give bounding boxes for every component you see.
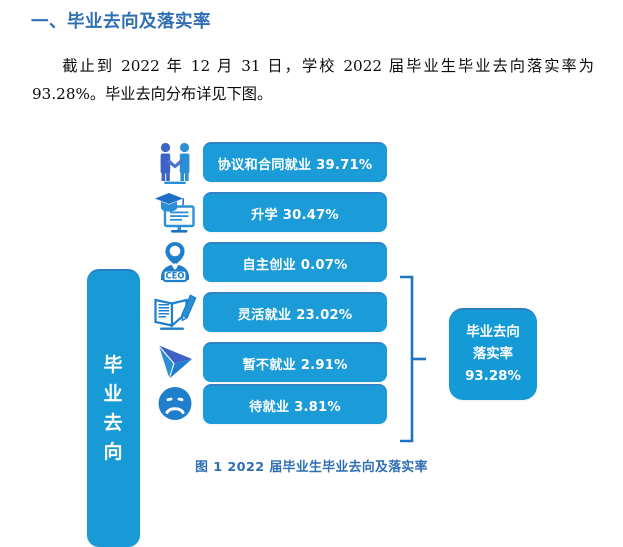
bar-category-3[interactable]: 灵活就业 23.02% (203, 292, 387, 332)
result-box: 毕业去向 落实率 93.28% (449, 308, 537, 400)
bar-label-0: 协议和合同就业 39.71% (218, 154, 373, 173)
bar-label-1: 升学 30.47% (251, 204, 339, 223)
paper-plane-icon (152, 339, 198, 385)
page-title: 一、毕业去向及落实率 (31, 8, 211, 33)
bar-category-2[interactable]: 自主创业 0.07% (203, 242, 387, 282)
sad-face-icon (152, 381, 198, 427)
book-pencil-icon (152, 289, 198, 335)
bar-category-1[interactable]: 升学 30.47% (203, 192, 387, 232)
bar-category-0[interactable]: 协议和合同就业 39.71% (203, 142, 387, 182)
result-line-2: 落实率 (473, 344, 513, 366)
graduation-monitor-icon (152, 189, 198, 235)
bar-label-2: 自主创业 0.07% (242, 254, 347, 273)
figure-caption: 图 1 2022 届毕业生毕业去向及落实率 (0, 456, 623, 475)
bar-label-3: 灵活就业 23.02% (238, 304, 352, 323)
figure-container: 毕 业 去 向 (0, 128, 623, 440)
result-line-1: 毕业去向 (466, 322, 520, 344)
bar-category-5[interactable]: 待就业 3.81% (203, 384, 387, 424)
bar-label-4: 暂不就业 2.91% (242, 354, 347, 373)
bar-label-5: 待就业 3.81% (249, 396, 341, 415)
bar-category-4[interactable]: 暂不就业 2.91% (203, 342, 387, 382)
handshake-icon (152, 139, 198, 185)
grouping-bracket (398, 274, 432, 444)
result-value: 93.28% (465, 366, 521, 388)
ceo-person-icon: CEO (152, 239, 198, 285)
svg-text:CEO: CEO (166, 271, 185, 281)
intro-paragraph: 截止到 2022 年 12 月 31 日，学校 2022 届毕业生毕业去向落实率… (32, 52, 594, 108)
